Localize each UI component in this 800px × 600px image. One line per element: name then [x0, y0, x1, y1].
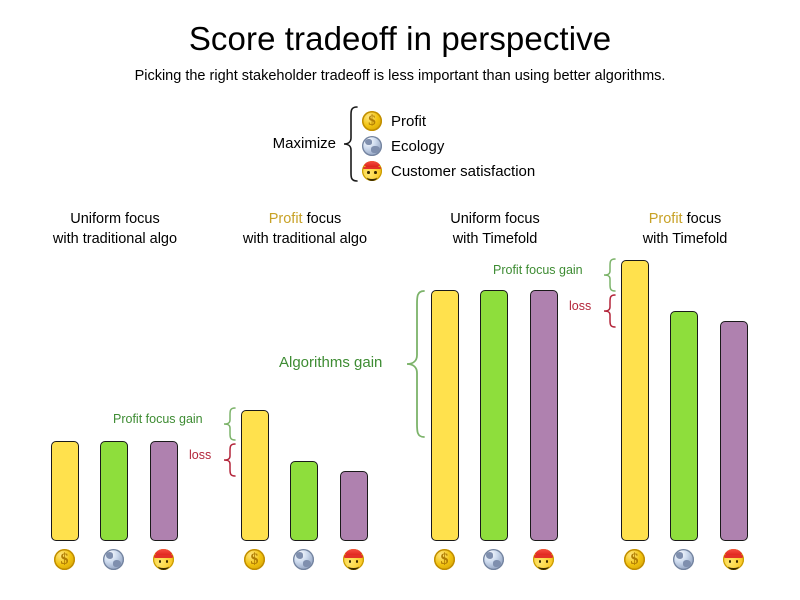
annotation-profit-focus-gain-right: Profit focus gain	[493, 263, 583, 277]
column-caption-2: Profit focus with traditional algo	[195, 209, 415, 249]
bar-group2-profit	[241, 410, 269, 541]
page-subtitle: Picking the right stakeholder tradeoff i…	[0, 68, 800, 84]
globe-icon	[103, 549, 124, 570]
smiley-cap-icon	[723, 549, 744, 570]
globe-icon	[673, 549, 694, 570]
column-caption-3: Uniform focus with Timefold	[385, 209, 605, 249]
coin-dollar-icon: $	[434, 549, 455, 570]
bar-group3-profit	[431, 290, 459, 541]
caption-text: focus	[501, 211, 540, 227]
bar-group1-ecology	[100, 441, 128, 541]
caption-text: focus	[303, 211, 342, 227]
legend-label: Maximize	[258, 135, 336, 152]
legend-brace-icon	[342, 105, 360, 183]
caption-highlight: Profit	[649, 211, 683, 227]
caption-text: Uniform	[70, 211, 121, 227]
legend: Maximize $ Profit Ecology Customer satis…	[258, 105, 558, 185]
smiley-cap-icon	[533, 549, 554, 570]
caption-text: with traditional algo	[53, 231, 177, 247]
bar-group4-ecology	[670, 311, 698, 541]
bar-group3-ecology	[480, 290, 508, 541]
legend-item-label: Ecology	[391, 138, 444, 155]
algorithms-gain-brace-icon	[404, 288, 428, 440]
smiley-cap-icon	[153, 549, 174, 570]
bar-group2-customer	[340, 471, 368, 541]
column-caption-1: Uniform focus with traditional algo	[5, 209, 225, 249]
annotation-loss-right: loss	[569, 299, 591, 313]
bar-group3-customer	[530, 290, 558, 541]
caption-text: with Timefold	[453, 231, 538, 247]
caption-text: focus	[121, 211, 160, 227]
globe-icon	[483, 549, 504, 570]
loss-brace-right-icon	[602, 293, 618, 329]
profit-focus-gain-brace-left-icon	[222, 406, 238, 442]
coin-dollar-icon: $	[244, 549, 265, 570]
coin-dollar-icon: $	[362, 111, 382, 131]
caption-text: Uniform	[450, 211, 501, 227]
annotation-loss-left: loss	[189, 448, 211, 462]
caption-text: with Timefold	[643, 231, 728, 247]
legend-item-label: Customer satisfaction	[391, 163, 535, 180]
annotation-algorithms-gain: Algorithms gain	[279, 354, 382, 371]
caption-highlight: Profit	[269, 211, 303, 227]
annotation-profit-focus-gain-left: Profit focus gain	[113, 412, 203, 426]
bar-group4-customer	[720, 321, 748, 541]
profit-focus-gain-brace-right-icon	[602, 257, 618, 293]
bar-group1-profit	[51, 441, 79, 541]
caption-text: with traditional algo	[243, 231, 367, 247]
bar-group1-customer	[150, 441, 178, 541]
loss-brace-left-icon	[222, 442, 238, 478]
coin-dollar-icon: $	[624, 549, 645, 570]
coin-dollar-icon: $	[54, 549, 75, 570]
legend-item-label: Profit	[391, 113, 426, 130]
bar-group4-profit	[621, 260, 649, 541]
smiley-cap-icon	[362, 161, 382, 181]
globe-icon	[293, 549, 314, 570]
smiley-cap-icon	[343, 549, 364, 570]
globe-icon	[362, 136, 382, 156]
legend-item-profit: $ Profit	[362, 111, 426, 131]
chart-canvas: Score tradeoff in perspective Picking th…	[0, 0, 800, 600]
legend-item-customer-satisfaction: Customer satisfaction	[362, 161, 535, 181]
caption-text: focus	[683, 211, 722, 227]
page-title: Score tradeoff in perspective	[0, 20, 800, 58]
bar-group2-ecology	[290, 461, 318, 541]
legend-item-ecology: Ecology	[362, 136, 444, 156]
column-caption-4: Profit focus with Timefold	[575, 209, 795, 249]
